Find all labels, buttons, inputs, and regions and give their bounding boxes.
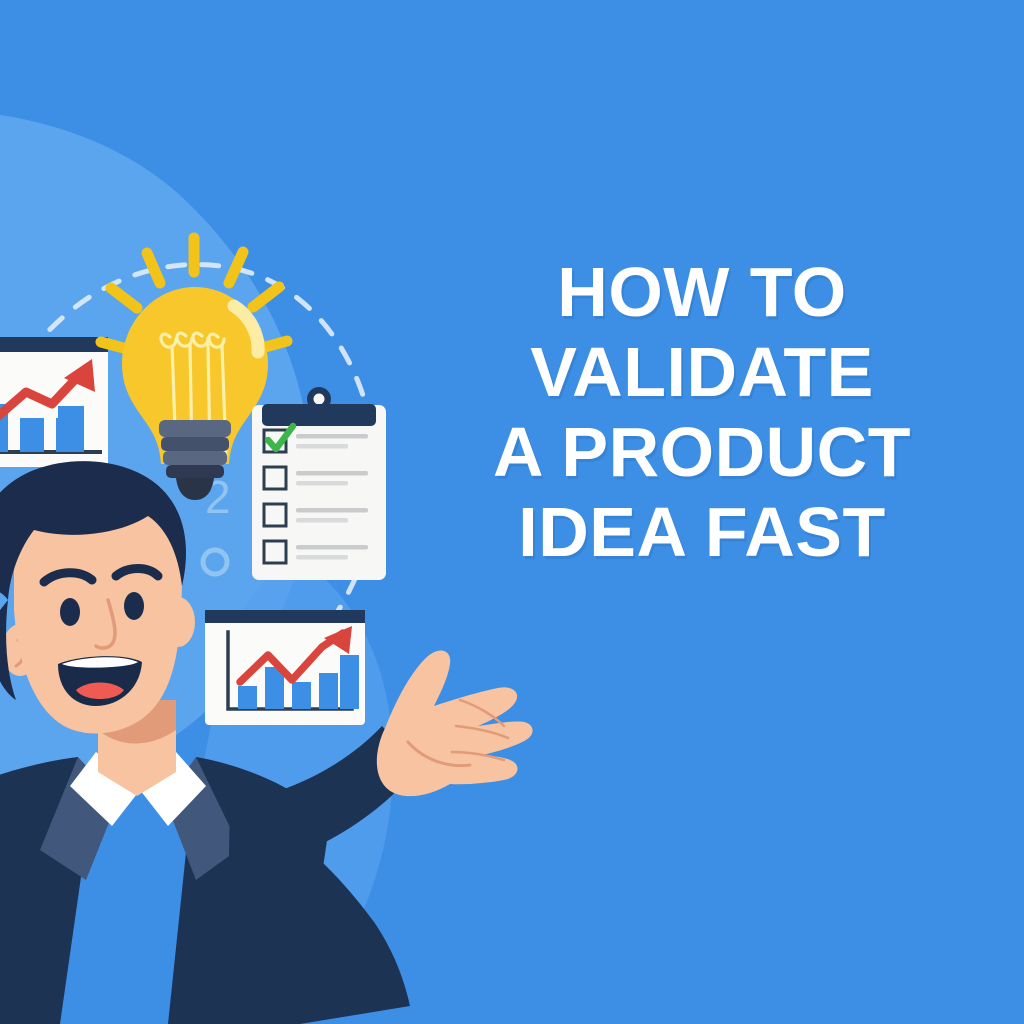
person-head (0, 461, 195, 733)
person-eye-right (124, 592, 144, 620)
headline-line-4: IDEA FAST (452, 492, 952, 572)
headline-line-3: A PRODUCT (452, 412, 952, 492)
person-eye-left (60, 598, 80, 626)
headline-line-2: VALIDATE (452, 332, 952, 412)
headline-line-1: HOW TO (452, 252, 952, 332)
poster-canvas: 2 (0, 0, 1024, 1024)
page-title: HOW TO VALIDATE A PRODUCT IDEA FAST (452, 252, 952, 573)
person-hand (377, 650, 533, 796)
